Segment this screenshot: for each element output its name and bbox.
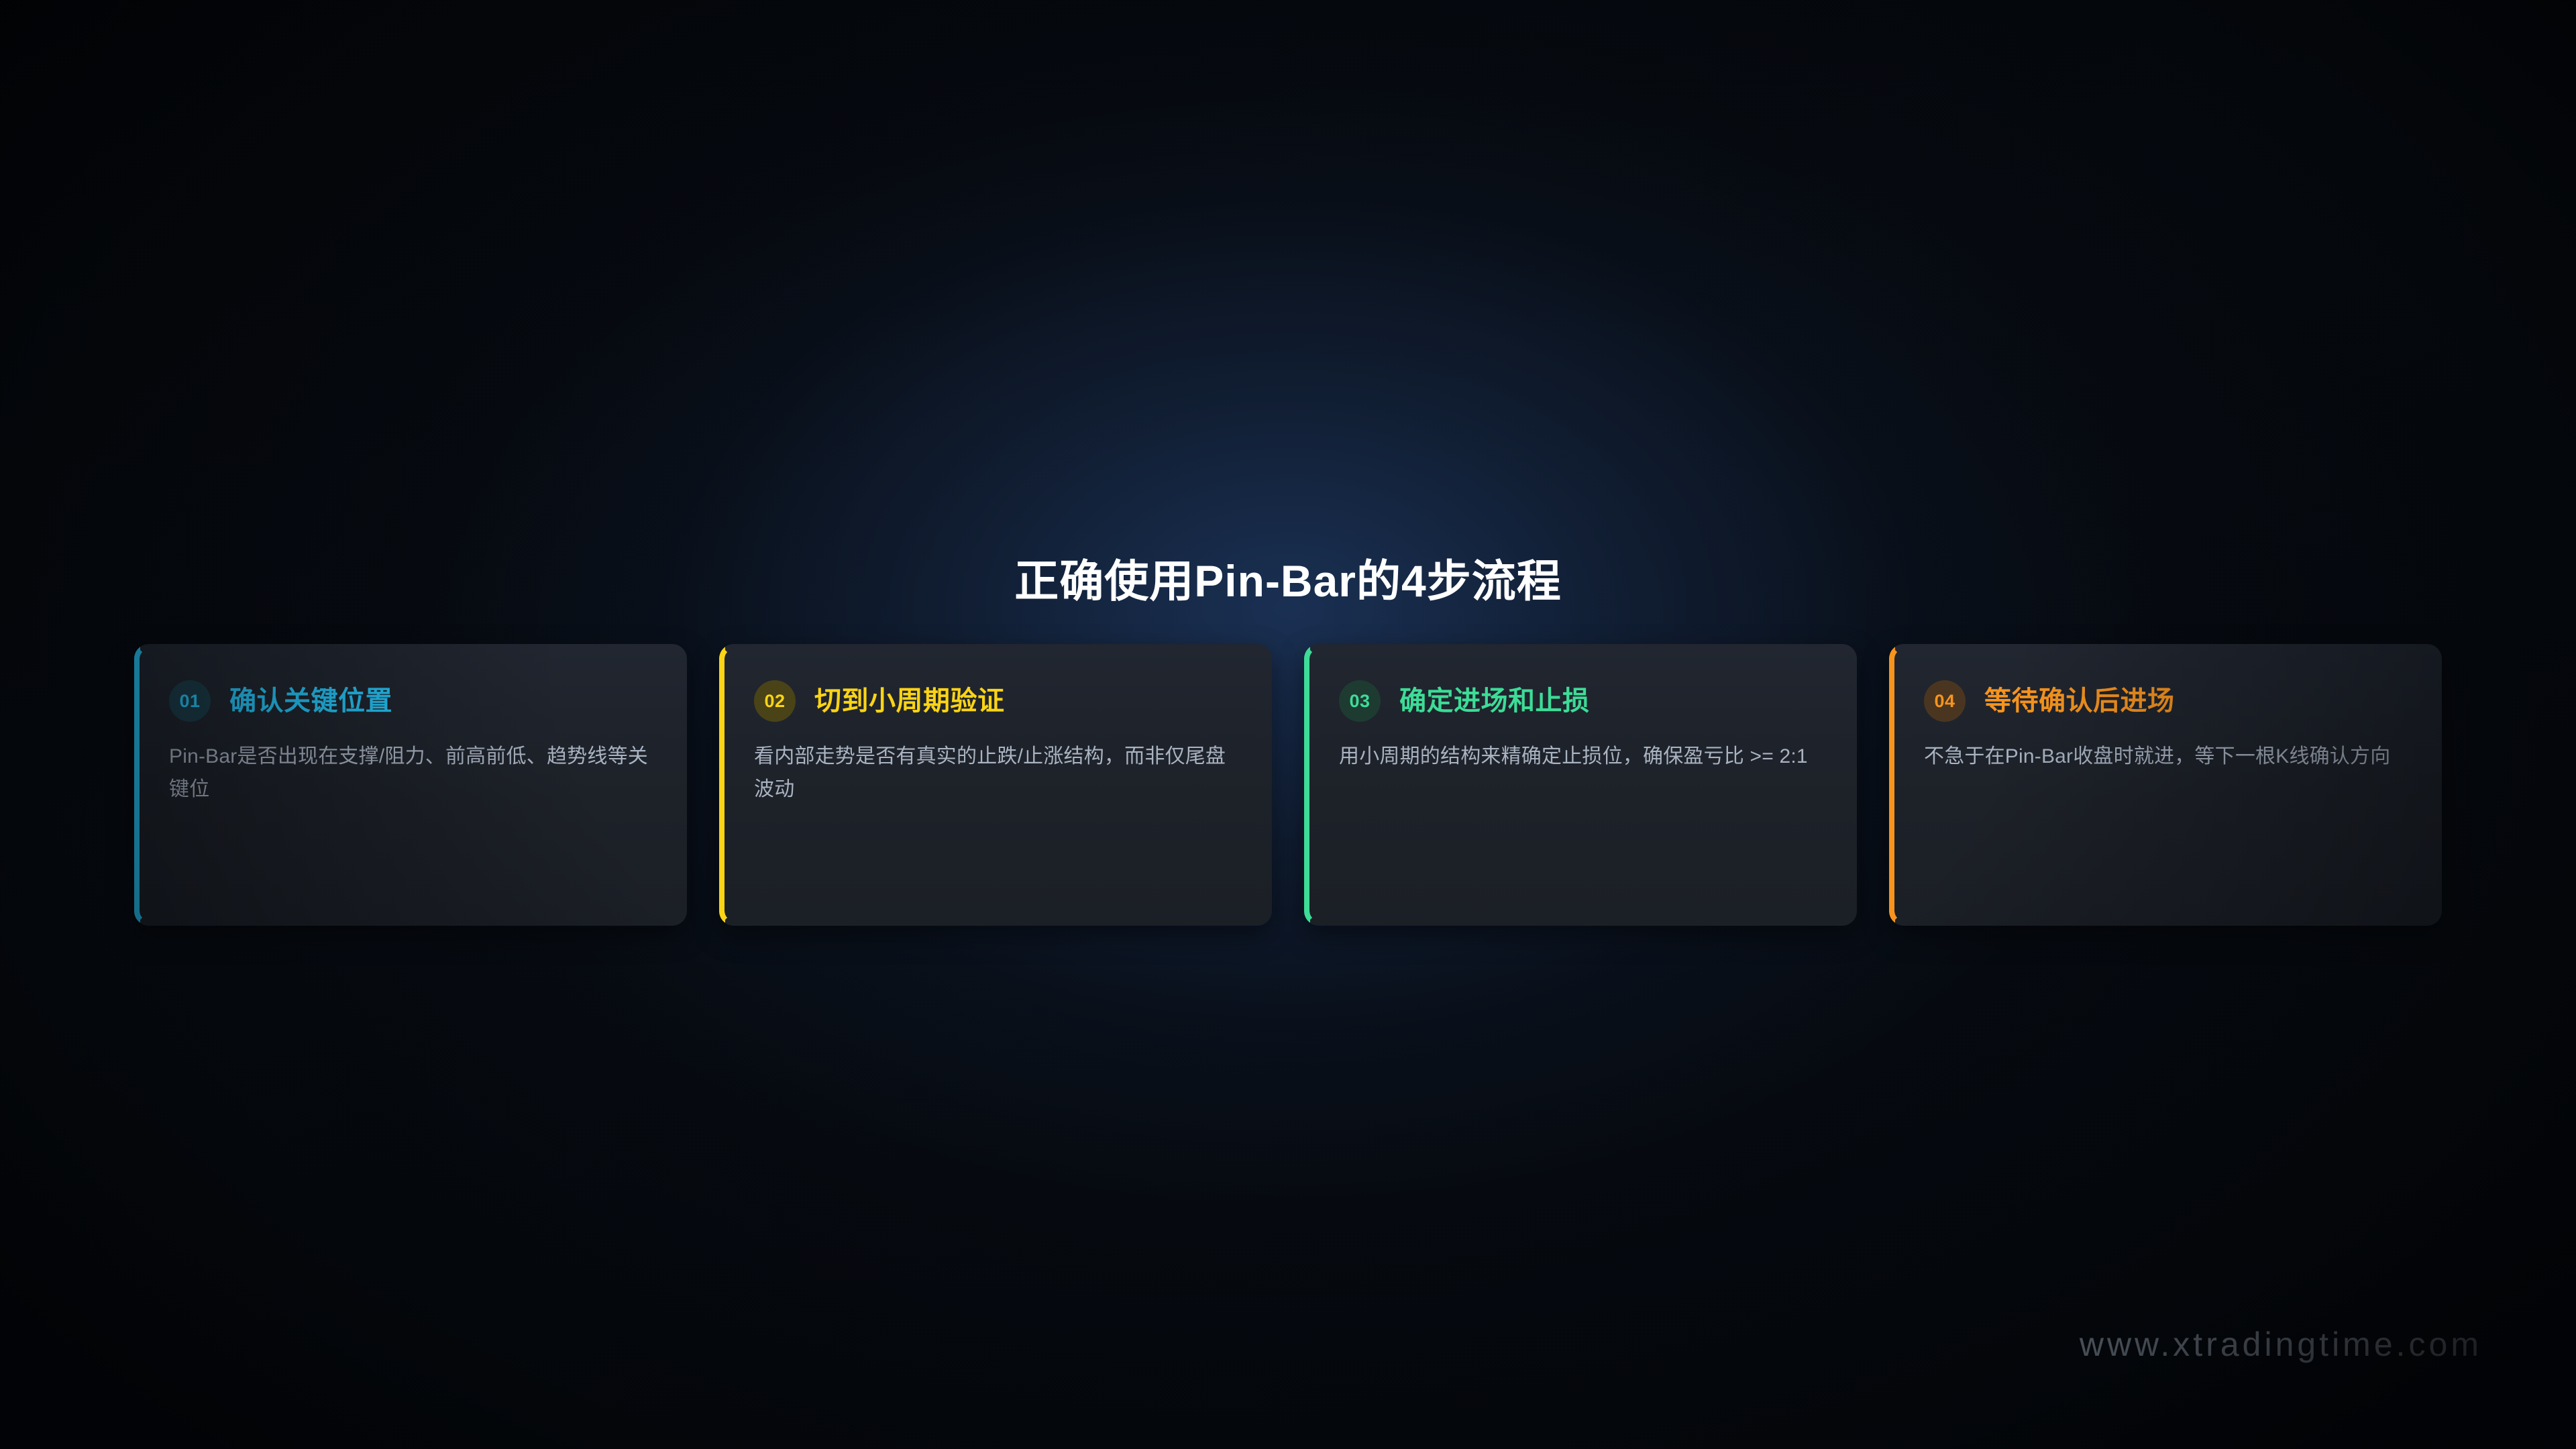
slide-canvas: 正确使用Pin-Bar的4步流程 01 确认关键位置 Pin-Bar是否出现在支… (0, 0, 2576, 1449)
step-description: 用小周期的结构来精确定止损位，确保盈亏比 >= 2:1 (1339, 741, 1826, 773)
site-url-watermark: www.xtradingtime.com (2080, 1325, 2482, 1364)
page-title: 正确使用Pin-Bar的4步流程 (0, 557, 2576, 606)
step-card-02[interactable]: 02 切到小周期验证 看内部走势是否有真实的止跌/止涨结构，而非仅尾盘波动 (719, 644, 1272, 926)
step-card-04[interactable]: 04 等待确认后进场 不急于在Pin-Bar收盘时就进，等下一根K线确认方向 (1889, 644, 2442, 926)
step-number-badge: 02 (754, 680, 796, 722)
accent-bar-icon (719, 644, 738, 926)
step-card-header: 03 确定进场和止损 (1339, 679, 1826, 723)
step-card-header: 01 确认关键位置 (169, 679, 656, 723)
step-card-header: 04 等待确认后进场 (1924, 679, 2411, 723)
steps-container: 01 确认关键位置 Pin-Bar是否出现在支撑/阻力、前高前低、趋势线等关键位… (134, 644, 2442, 926)
step-title: 确定进场和止损 (1399, 688, 1590, 714)
step-number-badge: 01 (169, 680, 211, 722)
accent-bar-icon (1304, 644, 1323, 926)
step-card-header: 02 切到小周期验证 (754, 679, 1241, 723)
step-number-badge: 03 (1339, 680, 1381, 722)
step-title: 等待确认后进场 (1984, 688, 2175, 714)
step-description: 不急于在Pin-Bar收盘时就进，等下一根K线确认方向 (1924, 741, 2411, 773)
step-number-badge: 04 (1924, 680, 1966, 722)
accent-bar-icon (1889, 644, 1908, 926)
step-title: 切到小周期验证 (814, 688, 1005, 714)
accent-bar-icon (134, 644, 153, 926)
step-title: 确认关键位置 (229, 688, 392, 714)
step-card-03[interactable]: 03 确定进场和止损 用小周期的结构来精确定止损位，确保盈亏比 >= 2:1 (1304, 644, 1857, 926)
step-description: 看内部走势是否有真实的止跌/止涨结构，而非仅尾盘波动 (754, 741, 1241, 806)
step-description: Pin-Bar是否出现在支撑/阻力、前高前低、趋势线等关键位 (169, 741, 656, 806)
step-card-01[interactable]: 01 确认关键位置 Pin-Bar是否出现在支撑/阻力、前高前低、趋势线等关键位 (134, 644, 687, 926)
